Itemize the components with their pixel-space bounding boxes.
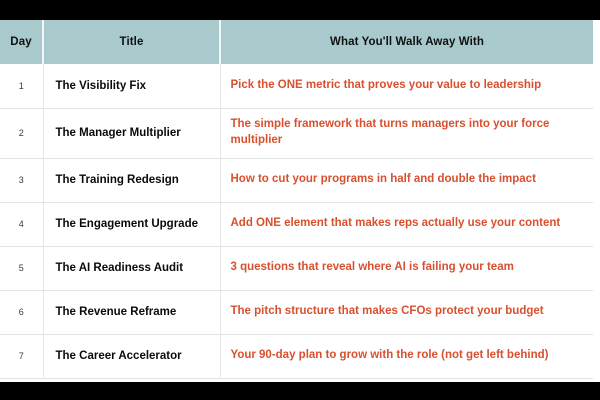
cell-walk-away: The pitch structure that makes CFOs prot… <box>220 290 593 334</box>
column-header-title: Title <box>43 20 220 64</box>
table-row: 1 The Visibility Fix Pick the ONE metric… <box>0 64 593 108</box>
table-row: 4 The Engagement Upgrade Add ONE element… <box>0 202 593 246</box>
table-body: 1 The Visibility Fix Pick the ONE metric… <box>0 64 593 378</box>
cell-day: 5 <box>0 246 43 290</box>
cell-title: The Career Accelerator <box>43 334 220 378</box>
cell-day: 3 <box>0 158 43 202</box>
schedule-table-container: Day Title What You'll Walk Away With 1 T… <box>0 20 600 382</box>
cell-walk-away: 3 questions that reveal where AI is fail… <box>220 246 593 290</box>
table-header: Day Title What You'll Walk Away With <box>0 20 593 64</box>
cell-day: 4 <box>0 202 43 246</box>
cell-day: 6 <box>0 290 43 334</box>
column-header-day: Day <box>0 20 43 64</box>
cell-day: 2 <box>0 108 43 158</box>
letterbox-bar-bottom <box>0 382 600 400</box>
table-row: 7 The Career Accelerator Your 90-day pla… <box>0 334 593 378</box>
header-row: Day Title What You'll Walk Away With <box>0 20 593 64</box>
table-row: 3 The Training Redesign How to cut your … <box>0 158 593 202</box>
letterbox-bar-top <box>0 0 600 20</box>
table-row: 2 The Manager Multiplier The simple fram… <box>0 108 593 158</box>
cell-title: The AI Readiness Audit <box>43 246 220 290</box>
cell-walk-away: The simple framework that turns managers… <box>220 108 593 158</box>
cell-day: 1 <box>0 64 43 108</box>
page-root: Day Title What You'll Walk Away With 1 T… <box>0 0 600 400</box>
cell-title: The Training Redesign <box>43 158 220 202</box>
column-header-walk-away: What You'll Walk Away With <box>220 20 593 64</box>
cell-title: The Visibility Fix <box>43 64 220 108</box>
schedule-table: Day Title What You'll Walk Away With 1 T… <box>0 20 593 379</box>
cell-day: 7 <box>0 334 43 378</box>
cell-walk-away: How to cut your programs in half and dou… <box>220 158 593 202</box>
cell-walk-away: Add ONE element that makes reps actually… <box>220 202 593 246</box>
table-row: 5 The AI Readiness Audit 3 questions tha… <box>0 246 593 290</box>
cell-title: The Engagement Upgrade <box>43 202 220 246</box>
cell-title: The Revenue Reframe <box>43 290 220 334</box>
cell-walk-away: Your 90-day plan to grow with the role (… <box>220 334 593 378</box>
cell-title: The Manager Multiplier <box>43 108 220 158</box>
cell-walk-away: Pick the ONE metric that proves your val… <box>220 64 593 108</box>
table-row: 6 The Revenue Reframe The pitch structur… <box>0 290 593 334</box>
